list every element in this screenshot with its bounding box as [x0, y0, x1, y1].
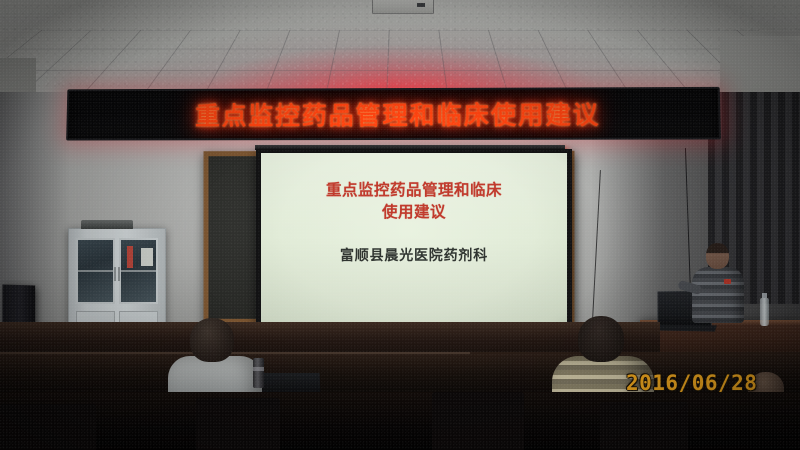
- cabinet-pane-right: [119, 238, 158, 304]
- cabinet-handle-upper2: [118, 267, 120, 281]
- projection-screen: 重点监控药品管理和临床 使用建议 富顺县晨光医院药剂科: [256, 149, 572, 343]
- slide-subtitle: 富顺县晨光医院药剂科: [261, 245, 567, 265]
- cabinet-pane-left: [76, 238, 115, 304]
- water-bottle: [760, 298, 769, 326]
- ceiling-vent: [372, 0, 434, 14]
- ceiling: [0, 0, 800, 92]
- slide-title-line-1: 重点监控药品管理和临床: [261, 180, 567, 202]
- presenter-shirt-logo: [724, 279, 731, 284]
- presenter-head: [706, 243, 729, 269]
- audience-right-head: [578, 316, 624, 362]
- presenter-standing: [690, 243, 746, 325]
- ceiling-corner-right: [720, 36, 800, 92]
- seat-back: [432, 392, 524, 450]
- object-on-cabinet: [81, 220, 133, 229]
- led-scrolling-banner: 重点监控药品管理和临床使用建议: [66, 87, 721, 141]
- thermos-cup: [253, 358, 264, 388]
- slide-title: 重点监控药品管理和临床 使用建议: [261, 180, 567, 224]
- cabinet-shelf: [121, 270, 156, 272]
- slide-title-line-2: 使用建议: [261, 202, 567, 224]
- camera-date-stamp: 2016/06/28: [626, 371, 757, 395]
- cabinet-contents: [141, 248, 153, 266]
- cabinet-glass-doors: [76, 238, 158, 304]
- projection-screen-surface: 重点监控药品管理和临床 使用建议 富顺县晨光医院药剂科: [261, 153, 567, 336]
- seat-back: [0, 404, 96, 450]
- conference-room-photo: 重点监控药品管理和临床使用建议 重点监控药品管理和临床 使用建议 富顺县晨光医院…: [0, 0, 800, 450]
- led-banner-text: 重点监控药品管理和临床使用建议: [181, 95, 600, 132]
- ceiling-corner-left: [0, 58, 36, 92]
- seat-back: [196, 398, 280, 450]
- laptop-on-desk: [262, 373, 321, 393]
- audience-left-head: [190, 318, 234, 362]
- cabinet-contents: [127, 246, 133, 268]
- seat-back: [600, 402, 688, 450]
- presenter-torso: [692, 267, 744, 323]
- cabinet-shelf: [78, 270, 113, 272]
- cabinet-handle-upper: [114, 267, 116, 281]
